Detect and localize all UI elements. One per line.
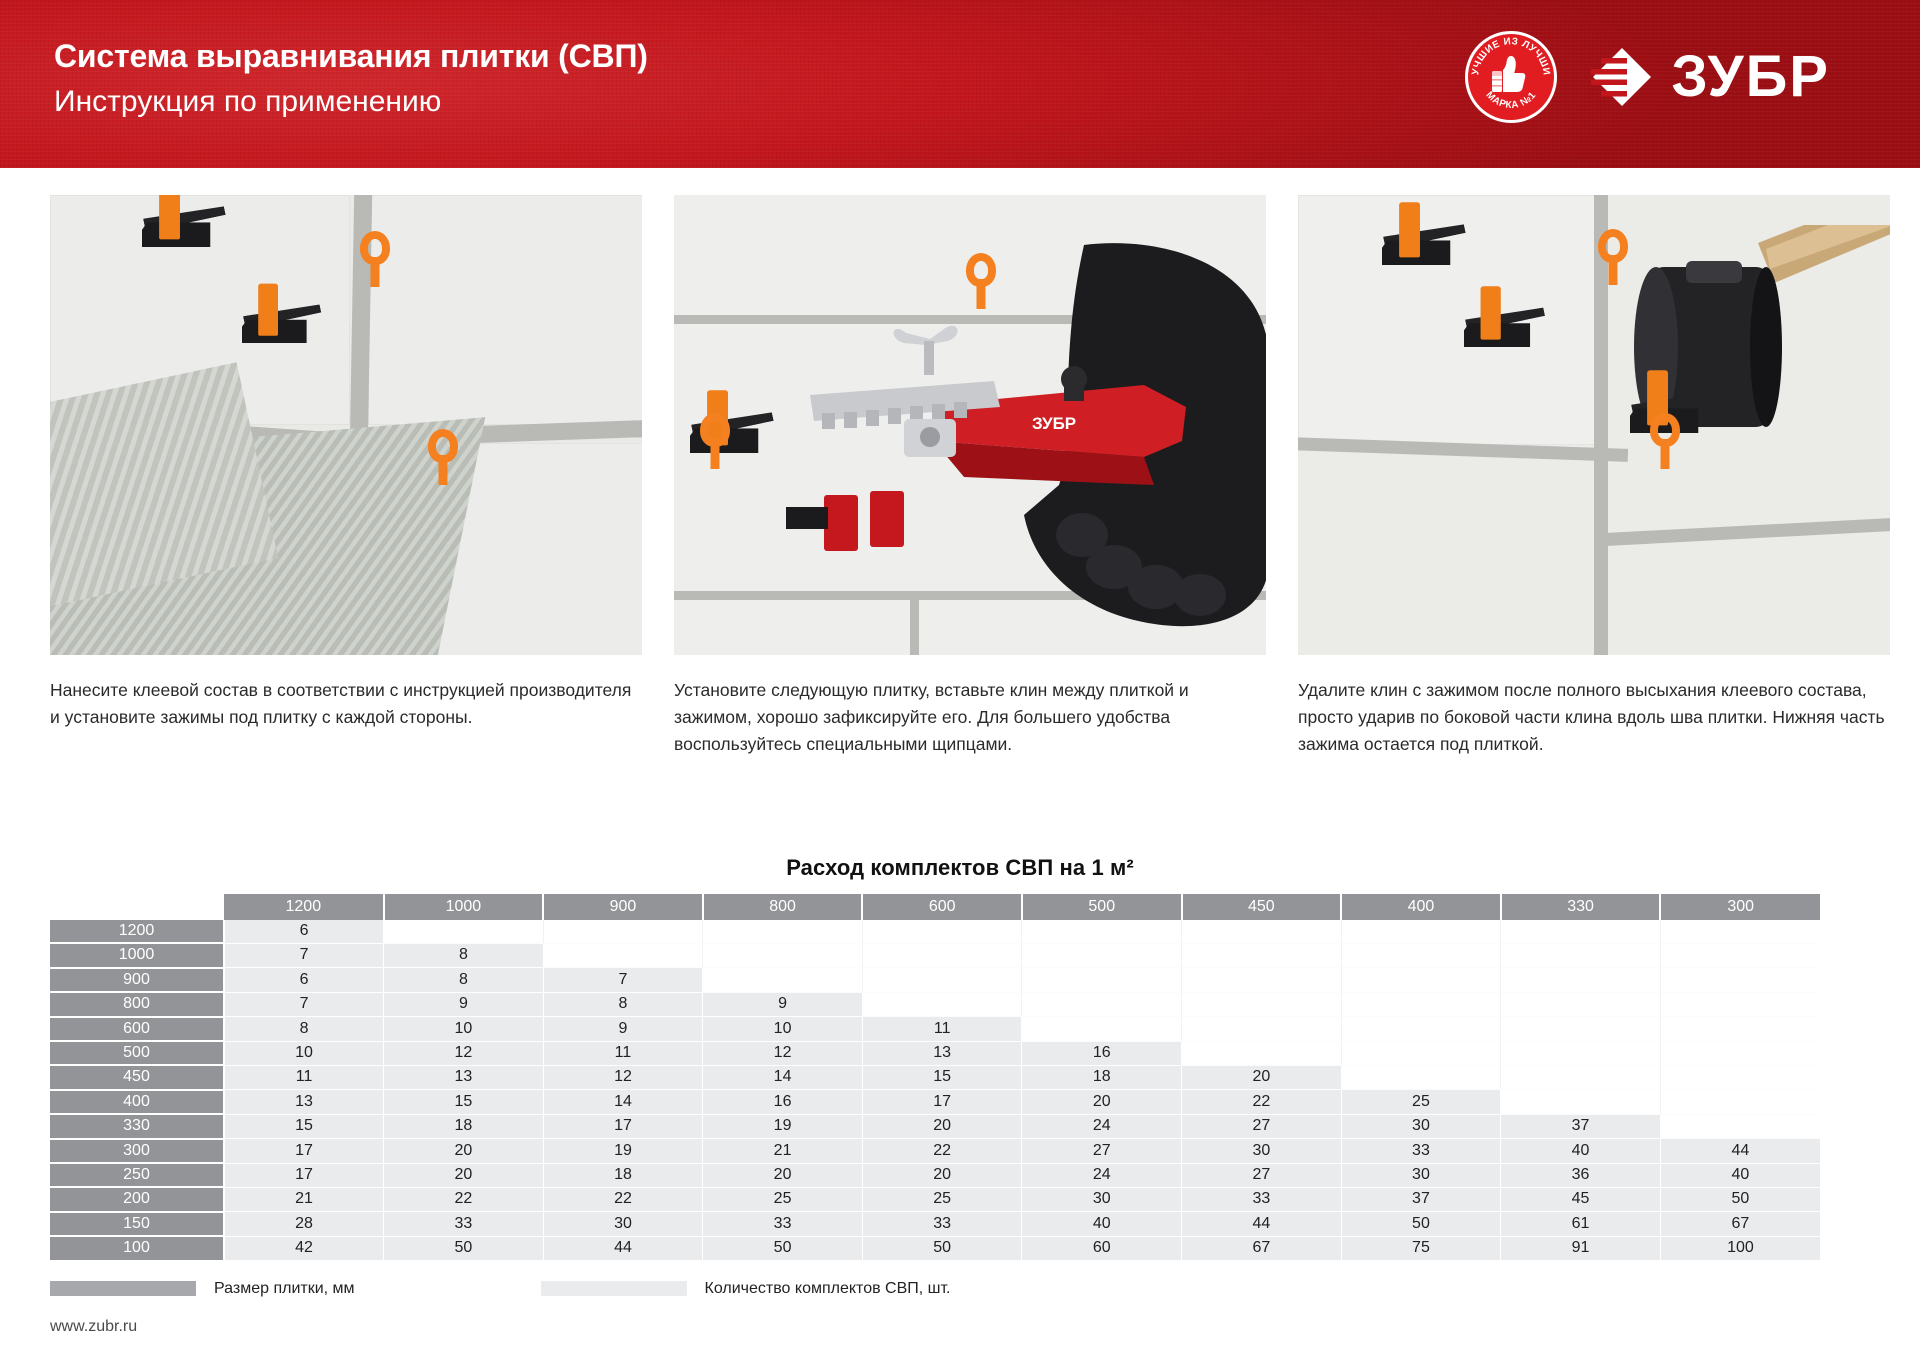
table-cell: 33 [1341,1139,1501,1163]
table-col-header-600: 600 [862,894,1022,920]
table-cell [1341,1017,1501,1041]
table-cell [1660,968,1820,992]
table-cell [1501,992,1661,1016]
table-row: 12006 [50,920,1820,943]
table-cell: 27 [1022,1139,1182,1163]
page-title: Система выравнивания плитки (СВП) [54,36,648,76]
svp-wedge-ring [360,231,390,265]
table-cell: 22 [384,1187,544,1211]
table-cell [1022,943,1182,967]
table-cell: 24 [1022,1114,1182,1138]
table-row: 60081091011 [50,1017,1820,1041]
table-cell: 50 [1341,1212,1501,1236]
table-cell [862,920,1022,943]
table-cell [862,968,1022,992]
red-clip-head [870,491,904,547]
table-cell [1660,1017,1820,1041]
table-header-row: 12001000900800600500450400330300 [50,894,1820,920]
table-cell: 20 [384,1163,544,1187]
table-cell: 67 [1182,1236,1342,1260]
legend-label-kits-count: Количество комплектов СВП, шт. [705,1280,951,1298]
table-cell: 33 [703,1212,863,1236]
table-row-header-150: 150 [50,1212,224,1236]
table-cell: 17 [862,1090,1022,1114]
svp-clip-base [786,507,828,529]
table-cell [543,943,703,967]
table-cell: 19 [543,1139,703,1163]
table-cell [862,992,1022,1016]
table-cell [1022,968,1182,992]
table-cell: 18 [543,1163,703,1187]
table-corner-cell [50,894,224,920]
step-1-caption: Нанесите клеевой состав в соответствии с… [50,677,642,731]
table-col-header-400: 400 [1341,894,1501,920]
legend-swatch-kits-count [541,1281,687,1296]
table-cell: 12 [384,1041,544,1065]
table-row-header-1200: 1200 [50,920,224,943]
table-cell [1182,943,1342,967]
table-cell [703,920,863,943]
step-1-photo [50,195,642,655]
table-cell: 9 [384,992,544,1016]
table-row-header-250: 250 [50,1163,224,1187]
table-cell: 10 [384,1017,544,1041]
table-cell: 33 [862,1212,1022,1236]
table-row-header-450: 450 [50,1065,224,1089]
legend-label-tile-size: Размер плитки, мм [214,1280,355,1298]
table-cell [543,920,703,943]
table-row-header-600: 600 [50,1017,224,1041]
table-cell: 20 [862,1114,1022,1138]
table-cell: 6 [224,920,384,943]
table-cell: 12 [703,1041,863,1065]
table-cell [384,920,544,943]
table-cell [862,943,1022,967]
table-cell [1182,968,1342,992]
table-row: 8007989 [50,992,1820,1016]
table-row: 100425044505060677591100 [50,1236,1820,1260]
table-row-header-1000: 1000 [50,943,224,967]
table-cell: 20 [1182,1065,1342,1089]
table-cell [1341,920,1501,943]
table-row-header-200: 200 [50,1187,224,1211]
step-3: Удалите клин с зажимом после полного выс… [1298,195,1890,758]
table-col-header-300: 300 [1660,894,1820,920]
footer-website: www.zubr.ru [50,1318,137,1336]
table-legend: Размер плитки, мм Количество комплектов … [50,1280,1870,1298]
table-cell: 10 [703,1017,863,1041]
table-cell: 33 [384,1212,544,1236]
header-title-block: Система выравнивания плитки (СВП) Инстру… [54,36,648,121]
table-cell: 20 [1022,1090,1182,1114]
table-cell: 17 [224,1139,384,1163]
table-cell [1501,1090,1661,1114]
table-cell: 30 [543,1212,703,1236]
table-cell: 16 [1022,1041,1182,1065]
step-2: ЗУБР [674,195,1266,758]
table-cell [703,943,863,967]
legend-swatch-tile-size [50,1281,196,1296]
table-cell [1341,1065,1501,1089]
table-cell: 8 [384,943,544,967]
table-cell: 61 [1501,1212,1661,1236]
brand-area: ЛУЧШИЕ ИЗ ЛУЧШИХ МАРКА №1 [1465,22,1830,132]
step-2-caption: Установите следующую плитку, вставьте кл… [674,677,1266,758]
red-clip-head [824,495,858,551]
table-row: 330151817192024273037 [50,1114,1820,1138]
table-cell [1182,1017,1342,1041]
table-cell [1501,968,1661,992]
svp-wedge-ring [1650,413,1680,447]
table-cell [1022,920,1182,943]
table-cell: 18 [1022,1065,1182,1089]
table-cell: 37 [1341,1187,1501,1211]
page-subtitle: Инструкция по применению [54,82,648,121]
thumbs-up-icon [1488,55,1534,99]
rubber-mallet-graphic [1598,225,1890,515]
table-cell: 15 [224,1114,384,1138]
table-cell: 7 [224,992,384,1016]
table-cell: 11 [543,1041,703,1065]
table-cell: 42 [224,1236,384,1260]
table-cell [1341,968,1501,992]
table-cell [1022,992,1182,1016]
consumption-table: 12001000900800600500450400330300 1200610… [50,894,1820,1262]
table-cell: 40 [1501,1139,1661,1163]
table-cell: 60 [1022,1236,1182,1260]
table-cell: 24 [1022,1163,1182,1187]
table-cell: 28 [224,1212,384,1236]
table-cell [1022,1017,1182,1041]
table-cell [1501,1065,1661,1089]
table-cell: 27 [1182,1163,1342,1187]
table-cell: 12 [543,1065,703,1089]
table-cell: 17 [543,1114,703,1138]
table-cell: 50 [703,1236,863,1260]
table-cell: 45 [1501,1187,1661,1211]
step-1: Нанесите клеевой состав в соответствии с… [50,195,642,758]
table-cell [1660,1090,1820,1114]
table-row: 100078 [50,943,1820,967]
best-of-the-best-stamp: ЛУЧШИЕ ИЗ ЛУЧШИХ МАРКА №1 [1465,31,1557,123]
table-col-header-1000: 1000 [384,894,544,920]
step-3-caption: Удалите клин с зажимом после полного выс… [1298,677,1890,758]
table-col-header-500: 500 [1022,894,1182,920]
table-row: 4001315141617202225 [50,1090,1820,1114]
table-row: 20021222225253033374550 [50,1187,1820,1211]
table-row: 500101211121316 [50,1041,1820,1065]
table-cell: 15 [384,1090,544,1114]
table-cell [1660,1065,1820,1089]
table-cell: 13 [384,1065,544,1089]
svp-wedge-ring [428,429,458,463]
wing-screw-icon [886,315,976,385]
table-cell: 13 [224,1090,384,1114]
table-row-header-100: 100 [50,1236,224,1260]
table-col-header-900: 900 [543,894,703,920]
table-row-header-330: 330 [50,1114,224,1138]
table-cell: 17 [224,1163,384,1187]
table-cell: 75 [1341,1236,1501,1260]
table-cell: 50 [862,1236,1022,1260]
table-cell: 67 [1660,1212,1820,1236]
step-3-photo [1298,195,1890,655]
svp-wedge-ring [700,413,730,447]
table-cell: 91 [1501,1236,1661,1260]
table-cell: 9 [543,1017,703,1041]
table-cell: 7 [224,943,384,967]
table-cell: 14 [703,1065,863,1089]
table-cell [1501,920,1661,943]
zubr-logo: ЗУБР [1591,46,1830,108]
table-cell: 13 [862,1041,1022,1065]
table-col-header-1200: 1200 [224,894,384,920]
table-cell: 21 [224,1187,384,1211]
table-cell: 25 [703,1187,863,1211]
table-cell: 11 [224,1065,384,1089]
table-cell: 11 [862,1017,1022,1041]
table-cell: 36 [1501,1163,1661,1187]
table-cell: 8 [543,992,703,1016]
table-cell: 20 [703,1163,863,1187]
table-cell [1660,920,1820,943]
table-cell: 20 [862,1163,1022,1187]
page-header: Система выравнивания плитки (СВП) Инстру… [0,0,1920,168]
table-col-header-330: 330 [1501,894,1661,920]
table-row-header-900: 900 [50,968,224,992]
step-2-photo: ЗУБР [674,195,1266,655]
table-row: 25017201820202427303640 [50,1163,1820,1187]
table-cell [1182,1041,1342,1065]
table-cell: 9 [703,992,863,1016]
table-cell [1501,943,1661,967]
table-cell: 27 [1182,1114,1342,1138]
table-cell: 30 [1341,1114,1501,1138]
table-cell: 22 [1182,1090,1342,1114]
table-cell [1501,1041,1661,1065]
table-row-header-500: 500 [50,1041,224,1065]
table-cell: 15 [862,1065,1022,1089]
table-cell [1660,943,1820,967]
svp-wedge-ring [1598,229,1628,263]
table-cell [1182,992,1342,1016]
table-cell: 30 [1022,1187,1182,1211]
table-cell: 20 [384,1139,544,1163]
table-row-header-400: 400 [50,1090,224,1114]
table-cell [1660,1041,1820,1065]
table-cell [1501,1017,1661,1041]
table-row: 45011131214151820 [50,1065,1820,1089]
consumption-table-section: Расход комплектов СВП на 1 м² 1200100090… [0,855,1920,1298]
table-cell: 40 [1022,1212,1182,1236]
table-cell: 30 [1182,1139,1342,1163]
zubr-wordmark: ЗУБР [1671,48,1830,106]
table-cell: 8 [384,968,544,992]
table-cell: 19 [703,1114,863,1138]
table-cell: 22 [862,1139,1022,1163]
table-cell: 44 [543,1236,703,1260]
table-cell: 16 [703,1090,863,1114]
table-row: 15028333033334044506167 [50,1212,1820,1236]
table-cell: 44 [1660,1139,1820,1163]
table-cell [703,968,863,992]
pliers-metal-rack [804,373,1044,483]
zubr-diamond-icon [1591,46,1653,108]
table-cell [1660,992,1820,1016]
table-cell: 10 [224,1041,384,1065]
table-col-header-450: 450 [1182,894,1342,920]
svp-wedge-ring [966,253,996,287]
table-row: 900687 [50,968,1820,992]
table-row-header-800: 800 [50,992,224,1016]
table-cell: 8 [224,1017,384,1041]
table-title: Расход комплектов СВП на 1 м² [50,855,1870,881]
table-cell: 40 [1660,1163,1820,1187]
table-cell: 18 [384,1114,544,1138]
table-cell [1341,943,1501,967]
table-row-header-300: 300 [50,1139,224,1163]
instruction-steps: Нанесите клеевой состав в соответствии с… [0,168,1920,758]
table-cell: 25 [862,1187,1022,1211]
table-cell: 33 [1182,1187,1342,1211]
table-cell: 21 [703,1139,863,1163]
table-cell: 25 [1341,1090,1501,1114]
table-cell [1660,1114,1820,1138]
table-cell: 30 [1341,1163,1501,1187]
table-row: 30017201921222730334044 [50,1139,1820,1163]
table-cell: 7 [543,968,703,992]
table-cell: 6 [224,968,384,992]
table-cell: 22 [543,1187,703,1211]
table-cell: 100 [1660,1236,1820,1260]
table-cell: 37 [1501,1114,1661,1138]
table-cell [1341,992,1501,1016]
table-cell [1341,1041,1501,1065]
table-cell: 50 [384,1236,544,1260]
table-cell: 44 [1182,1212,1342,1236]
table-cell [1182,920,1342,943]
table-col-header-800: 800 [703,894,863,920]
table-cell: 14 [543,1090,703,1114]
table-cell: 50 [1660,1187,1820,1211]
